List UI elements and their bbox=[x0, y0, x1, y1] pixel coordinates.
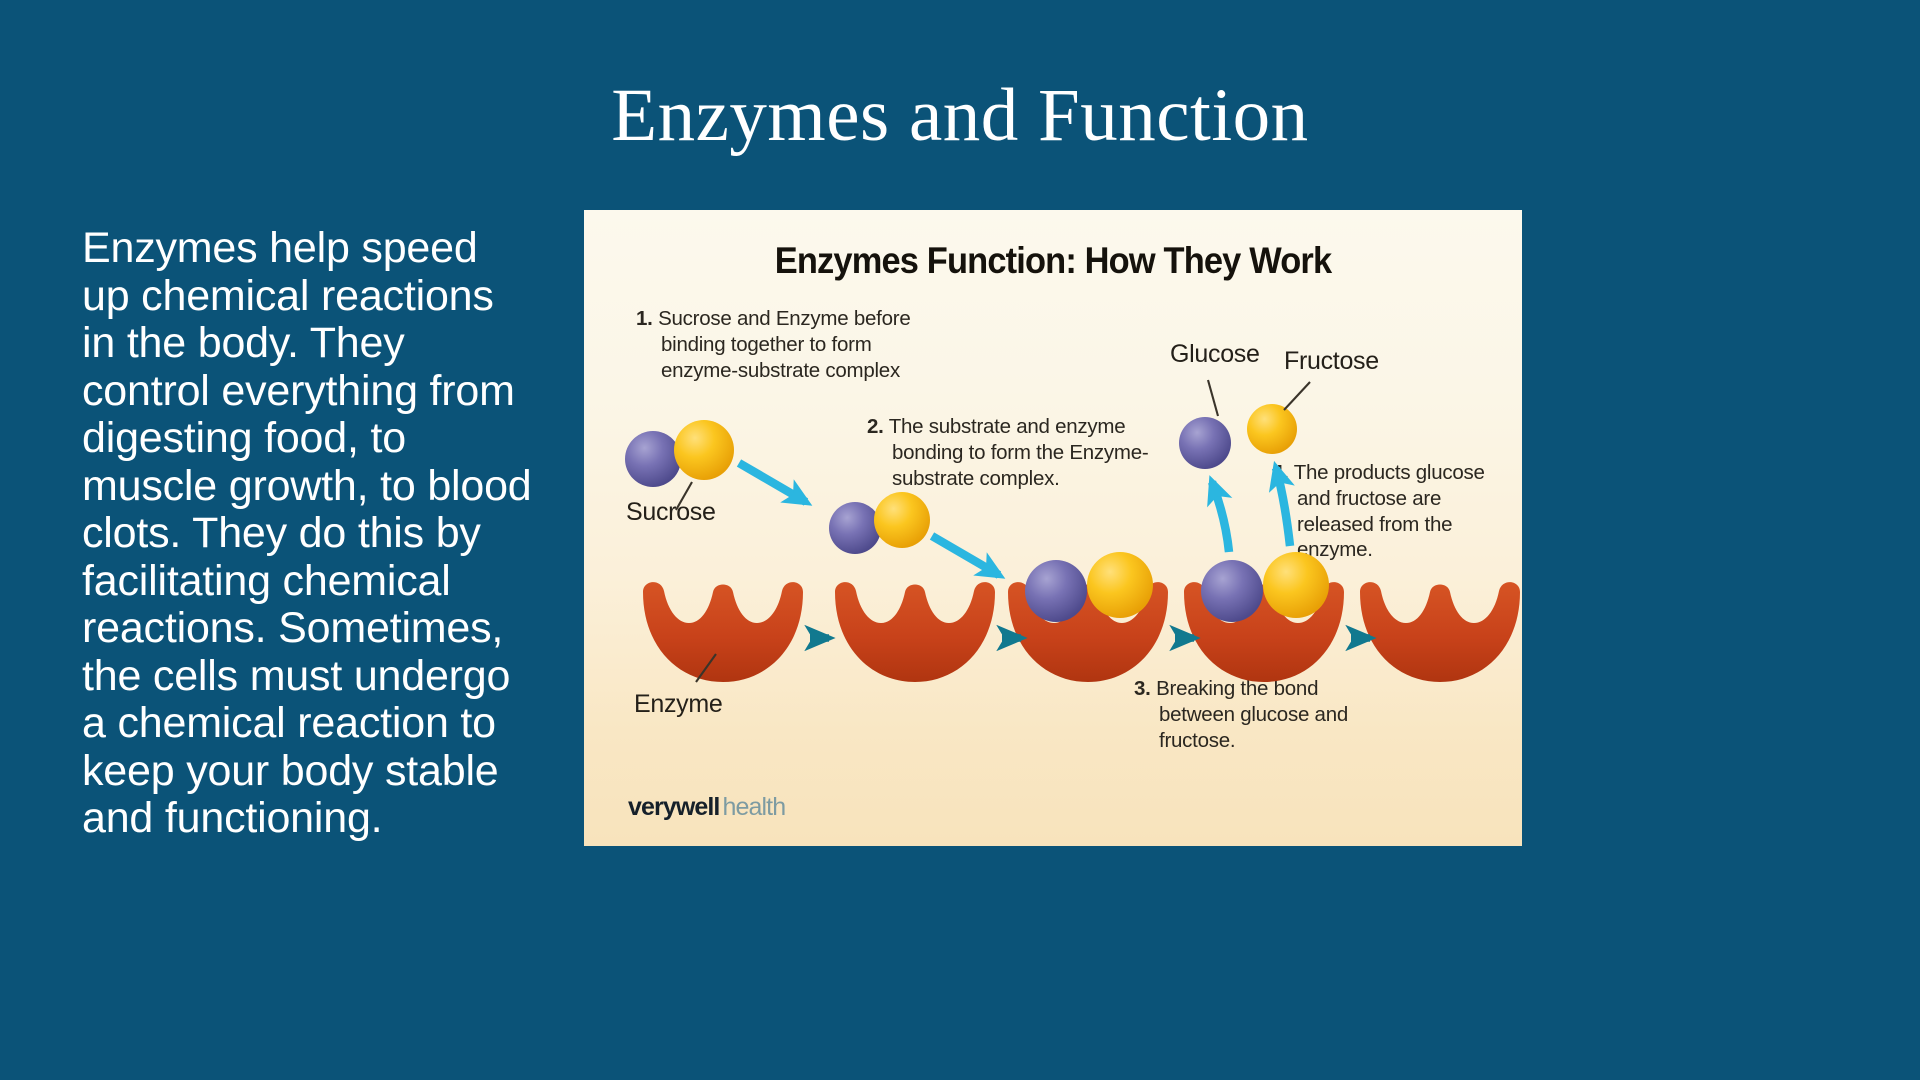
fructose-sphere-bound bbox=[1087, 552, 1153, 618]
glucose-sphere-bound bbox=[1025, 560, 1087, 622]
fructose-sphere-breaking bbox=[1263, 552, 1329, 618]
enzyme-diagram-panel: Enzymes Function: How They Work 1. Sucro… bbox=[584, 210, 1522, 846]
sucrose-leader-line bbox=[676, 482, 692, 510]
fructose-leader-line bbox=[1284, 382, 1310, 410]
released-products bbox=[1179, 404, 1297, 469]
sucrose-molecule-free bbox=[625, 420, 734, 487]
motion-arrow-glucose-release bbox=[1212, 482, 1229, 552]
enzyme-reaction-illustration bbox=[584, 210, 1522, 846]
logo-suffix: health bbox=[722, 793, 785, 821]
logo-brand: verywell bbox=[628, 793, 719, 821]
enzyme-stage-3-complex bbox=[1008, 552, 1168, 682]
fructose-sphere-free bbox=[674, 420, 734, 480]
fructose-sphere-approaching bbox=[874, 492, 930, 548]
glucose-leader-line bbox=[1208, 380, 1218, 416]
glucose-sphere-approaching bbox=[829, 502, 881, 554]
glucose-sphere-free bbox=[625, 431, 681, 487]
motion-arrow-fructose-release bbox=[1276, 468, 1290, 546]
enzyme-stage-4-breaking bbox=[1184, 552, 1344, 682]
enzyme-stage-2 bbox=[835, 582, 995, 682]
page-title: Enzymes and Function bbox=[0, 78, 1920, 153]
sucrose-molecule-approaching bbox=[829, 492, 930, 554]
motion-arrow-sucrose-1 bbox=[739, 463, 806, 502]
verywell-health-logo: verywellhealth bbox=[628, 793, 785, 822]
fructose-sphere-released bbox=[1247, 404, 1297, 454]
glucose-sphere-released bbox=[1179, 417, 1231, 469]
enzyme-stage-1 bbox=[643, 582, 803, 682]
slide-body-text: Enzymes help speed up chemical reactions… bbox=[82, 225, 534, 843]
glucose-sphere-breaking bbox=[1201, 560, 1263, 622]
enzyme-stage-5 bbox=[1360, 582, 1520, 682]
motion-arrow-sucrose-2 bbox=[932, 536, 999, 575]
